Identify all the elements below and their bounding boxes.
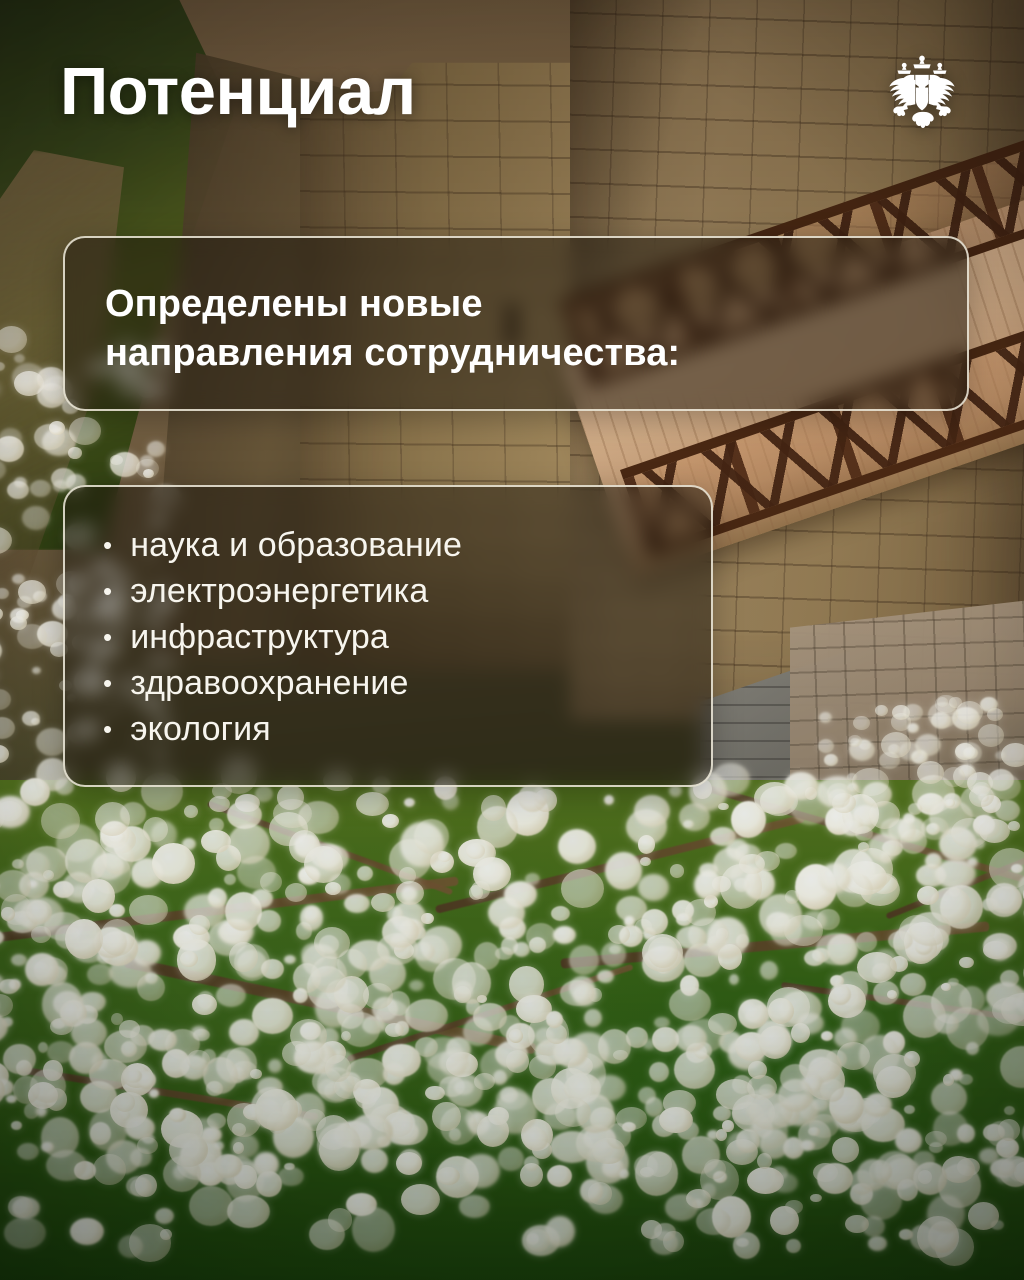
page-title: Потенциал: [60, 58, 416, 125]
list-item-label: электроэнергетика: [130, 569, 428, 613]
list-item-label: экология: [130, 707, 271, 751]
poster-slide: Потенциал: [0, 0, 1024, 1280]
bullet-icon: •: [103, 569, 112, 613]
heading-line-2: направления сотрудничества:: [105, 329, 927, 378]
list-item-label: здравоохранение: [130, 661, 408, 705]
heading-card: Определены новые направления сотрудничес…: [63, 236, 969, 411]
list-item-label: наука и образование: [130, 523, 462, 567]
cooperation-directions-list: •наука и образование•электроэнергетика•и…: [103, 523, 681, 753]
bullet-icon: •: [103, 615, 112, 659]
bullet-icon: •: [103, 661, 112, 705]
bullet-icon: •: [103, 707, 112, 751]
directions-card: •наука и образование•электроэнергетика•и…: [63, 485, 713, 787]
list-item: •электроэнергетика: [103, 569, 681, 615]
double-headed-eagle-icon: [874, 48, 970, 144]
list-item-label: инфраструктура: [130, 615, 389, 659]
list-item: •наука и образование: [103, 523, 681, 569]
list-item: •экология: [103, 707, 681, 753]
list-item: •инфраструктура: [103, 615, 681, 661]
heading-line-1: Определены новые: [105, 280, 927, 329]
bullet-icon: •: [103, 523, 112, 567]
list-item: •здравоохранение: [103, 661, 681, 707]
